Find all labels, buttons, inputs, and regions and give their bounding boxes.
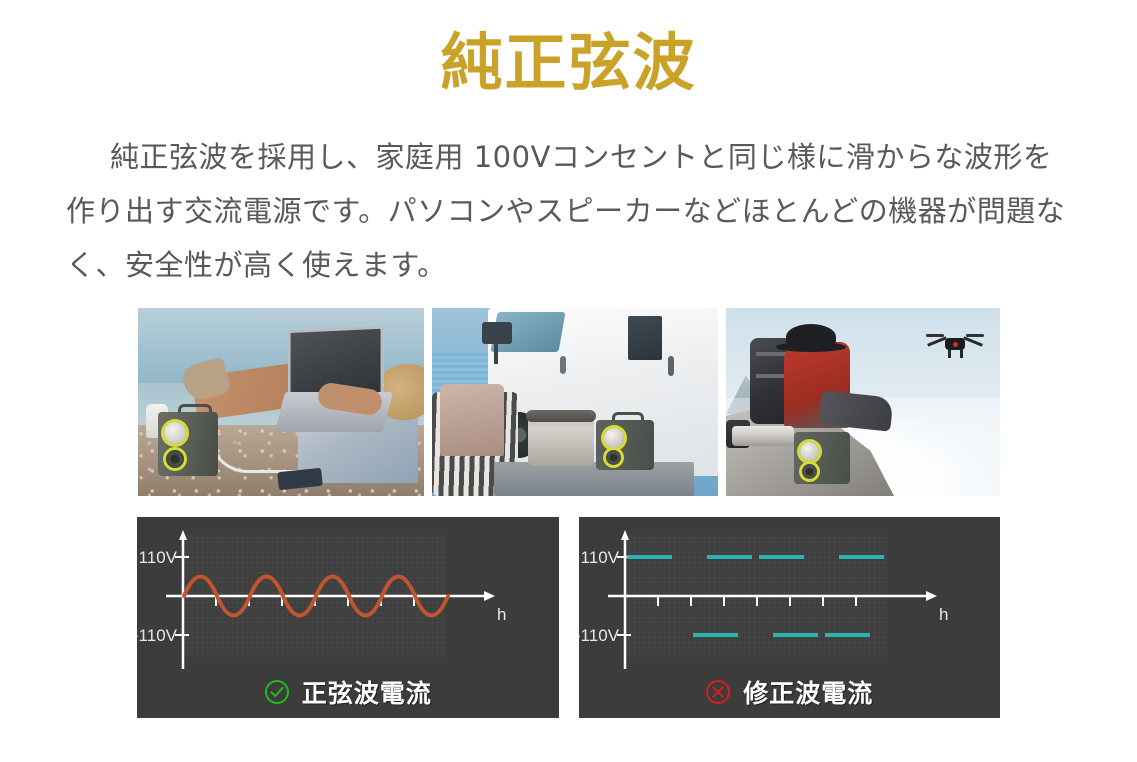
power-station-light — [164, 422, 186, 444]
y-tick-top-label: 110V — [580, 548, 619, 567]
sine-wave-caption-text: 正弦波電流 — [302, 674, 432, 710]
camp-table — [494, 462, 694, 496]
telephoto-lens — [732, 426, 794, 446]
cross-circle-icon — [705, 679, 731, 705]
drone-arm — [963, 336, 983, 346]
towel — [440, 384, 504, 456]
photographer-hat — [786, 324, 836, 350]
drone-rotor — [966, 334, 984, 337]
y-tick-bottom-label: -110V — [137, 626, 178, 645]
intro-paragraph: 純正弦波を採用し、家庭用 100Vコンセントと同じ様に滑からな波形を作り出す交流… — [66, 130, 1078, 292]
drone-light — [953, 342, 958, 347]
sine-wave-caption: 正弦波電流 — [137, 674, 559, 710]
photo-gallery — [138, 308, 1000, 496]
drone-leg — [960, 349, 963, 358]
van-mirror — [482, 322, 512, 344]
van-door-handle — [560, 356, 566, 374]
drone-arm — [927, 336, 947, 346]
modified-wave-caption-text: 修正波電流 — [743, 674, 873, 710]
x-axis-label: h — [939, 605, 948, 624]
van-mirror-arm — [494, 342, 498, 364]
van-door-handle — [668, 356, 674, 376]
mountain-drone-photo — [726, 308, 1000, 496]
waveform-comparison: 110V -110V h 正弦波電流 — [137, 517, 1000, 718]
power-station-fan — [166, 450, 184, 468]
check-circle-icon — [264, 679, 290, 705]
drone-leg — [948, 349, 951, 358]
van-side-window — [628, 316, 662, 360]
sine-wave-panel: 110V -110V h 正弦波電流 — [137, 517, 559, 718]
x-axis-label: h — [497, 605, 506, 624]
y-tick-top-label: 110V — [139, 548, 178, 567]
modified-wave-panel: 110V -110V h 修正波電流 — [579, 517, 1001, 718]
power-station-light — [604, 428, 624, 448]
drone-rotor — [926, 334, 944, 337]
drone-icon — [928, 330, 982, 358]
rice-cooker-lid — [526, 410, 596, 422]
modified-wave-caption: 修正波電流 — [579, 674, 1001, 710]
power-station — [158, 412, 218, 476]
beach-laptop-photo — [138, 308, 424, 496]
power-station-fan — [606, 450, 621, 465]
power-station — [596, 420, 654, 470]
power-station-fan — [802, 464, 817, 479]
camper-van-photo — [432, 308, 718, 496]
power-station-light — [800, 442, 819, 461]
sine-wave-chart: 110V -110V h — [137, 517, 563, 682]
page-title: 純正弦波 — [0, 32, 1137, 94]
modified-wave-chart: 110V -110V h — [579, 517, 1005, 682]
y-tick-bottom-label: -110V — [579, 626, 620, 645]
